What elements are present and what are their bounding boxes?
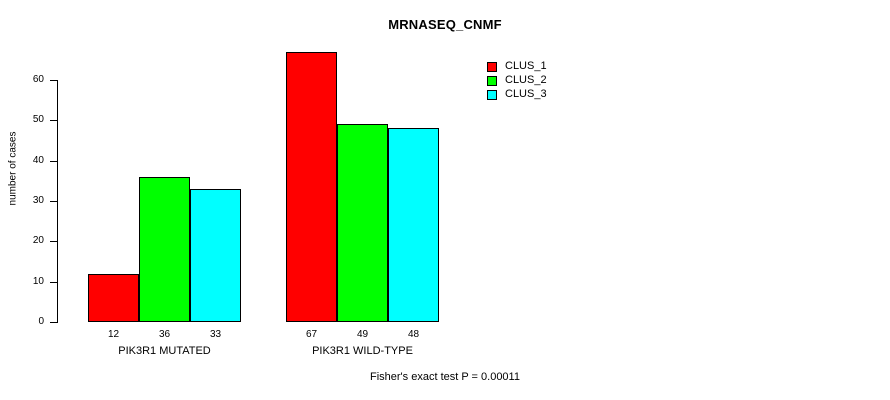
y-axis-tick [50,161,57,162]
legend-color-swatch [487,90,497,100]
bar-value-label: 36 [139,330,190,340]
y-axis-tick [50,80,57,81]
y-axis-tick [50,201,57,202]
group-label: PIK3R1 MUTATED [58,345,271,357]
bar-value-label: 67 [286,330,337,340]
y-axis-tick-label: 20 [4,236,44,246]
y-axis-tick-label: 40 [4,156,44,166]
legend-item-label: CLUS_3 [505,88,547,101]
legend-color-swatch [487,62,497,72]
bar-value-label: 33 [190,330,241,340]
bar [388,128,439,322]
bar-value-label: 48 [388,330,439,340]
y-axis-tick [50,282,57,283]
y-axis-tick-label: 10 [4,277,44,287]
legend-color-swatch [487,76,497,86]
bar [190,189,241,322]
bar [88,274,139,322]
chart-title: MRNASEQ_CNMF [0,17,890,32]
bar [286,52,337,322]
y-axis-title: number of cases [8,109,19,229]
bar-value-label: 49 [337,330,388,340]
y-axis-tick-label: 50 [4,115,44,125]
y-axis-tick [50,241,57,242]
y-axis-tick-label: 60 [4,75,44,85]
legend-item-label: CLUS_2 [505,74,547,87]
y-axis-tick-label: 30 [4,196,44,206]
y-axis-tick [50,322,57,323]
bar-value-label: 12 [88,330,139,340]
bar [139,177,190,322]
group-label: PIK3R1 WILD-TYPE [256,345,469,357]
legend-item-label: CLUS_1 [505,60,547,73]
y-axis-line [57,80,58,323]
statistical-test-annotation: Fisher's exact test P = 0.00011 [0,371,890,383]
chart-canvas: MRNASEQ_CNMF number of cases 01020304050… [0,0,890,400]
y-axis-tick [50,120,57,121]
y-axis-tick-label: 0 [4,317,44,327]
bar [337,124,388,322]
